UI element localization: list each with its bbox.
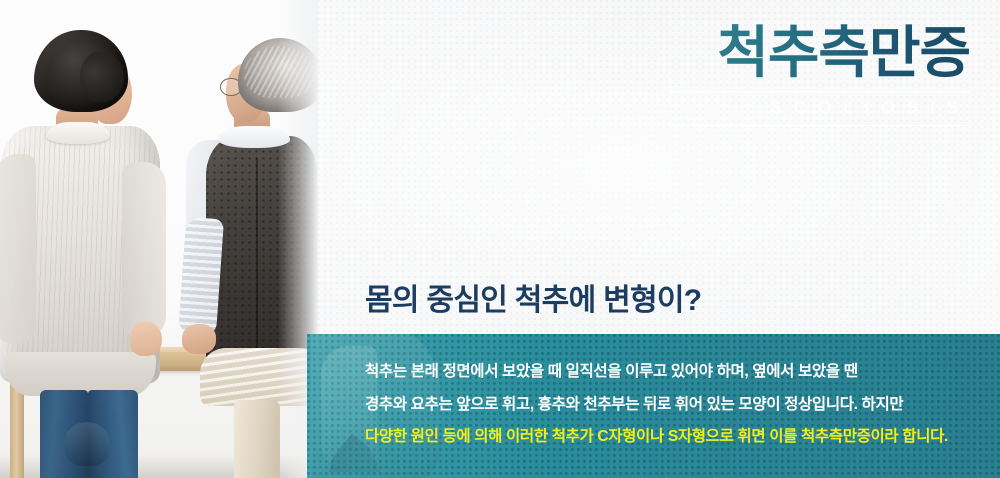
young-man-arm-left bbox=[0, 154, 36, 344]
young-man-jeans-fold bbox=[64, 422, 110, 466]
page-subtitle: SCOLIOSIS bbox=[670, 98, 970, 118]
young-man-hair-side bbox=[80, 52, 124, 102]
young-man-collar bbox=[46, 122, 110, 144]
headline: 몸의 중심인 척추에 변형이? bbox=[365, 275, 701, 319]
young-man-hand bbox=[130, 322, 162, 356]
description-text: 척추는 본래 정면에서 보았을 때 일직선을 이루고 있어야 하며, 옆에서 보… bbox=[365, 364, 948, 445]
description-line-3: 다양한 원인 등에 의해 이러한 척추가 C자형이나 S자형으로 휘면 이를 척… bbox=[365, 429, 948, 445]
description-line-2: 경추와 요추는 앞으로 휘고, 흉추와 천추부는 뒤로 휘어 있는 모양이 정상… bbox=[365, 397, 948, 413]
young-man-arm-right bbox=[122, 162, 166, 338]
scoliosis-banner: 척추측만증 SCOLIOSIS 몸의 중심인 척추에 변형이? 척추는 본래 정… bbox=[0, 0, 1000, 478]
older-man-hand bbox=[182, 324, 216, 354]
page-title: 척추측만증 bbox=[670, 22, 970, 85]
older-man-trouser-leg bbox=[234, 400, 280, 478]
subtitle-rule-wrapper: SCOLIOSIS bbox=[670, 91, 970, 126]
description-panel: 척추는 본래 정면에서 보았을 때 일직선을 이루고 있어야 하며, 옆에서 보… bbox=[307, 334, 1000, 478]
hero-photo bbox=[0, 0, 318, 478]
older-man-vest-seam bbox=[256, 158, 258, 358]
title-block: 척추측만증 SCOLIOSIS bbox=[670, 22, 970, 126]
person-young-man bbox=[4, 22, 174, 478]
description-line-1: 척추는 본래 정면에서 보았을 때 일직선을 이루고 있어야 하며, 옆에서 보… bbox=[365, 364, 948, 380]
